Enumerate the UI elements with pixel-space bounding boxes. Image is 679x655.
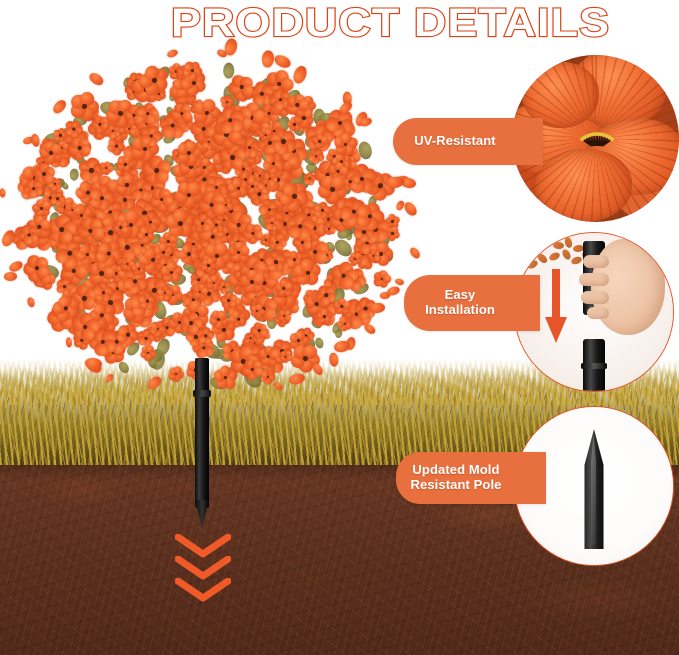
pole-collar [581,363,607,369]
insertion-arrow-chevron [175,556,231,578]
insertion-arrow-chevron [175,578,231,600]
feature-badge-label-line2: Installation [425,303,495,318]
stake-joint [193,390,211,397]
down-arrow-icon [545,269,567,343]
product-flower-bush [8,48,408,393]
garden-stake-pole [195,358,209,508]
sprig-leaf [523,246,535,259]
sprig-leaf [553,242,564,250]
sprig-leaf [532,240,544,249]
title-bar: PRODUCT DETAILS [0,0,679,46]
sprig-leaf [526,259,539,270]
feature-badge-label: UV-Resistant [414,134,495,149]
feature-badge-easy-installation[interactable]: Easy Installation [404,275,540,331]
sprig-leaf [564,236,574,249]
sprig-leaf [548,251,561,262]
page-title: PRODUCT DETAILS [68,3,610,43]
feature-badge-label-line1: Updated Mold [411,463,502,478]
sprig-leaf [570,255,583,265]
infographic-canvas: PRODUCT DETAILS UV-Resistant Easy Instal… [0,0,679,655]
insertion-arrow-chevron [175,534,231,556]
hand [591,239,665,335]
feature-badge-uv-resistant[interactable]: UV-Resistant [393,118,543,165]
flower-stamens [583,130,609,148]
feature-badge-label-line1: Easy [425,288,495,303]
feature-badge-mold-resistant-pole[interactable]: Updated Mold Resistant Pole [396,452,546,504]
feature-badge-label-line2: Resistant Pole [411,478,502,493]
flower-canopy [8,48,408,393]
